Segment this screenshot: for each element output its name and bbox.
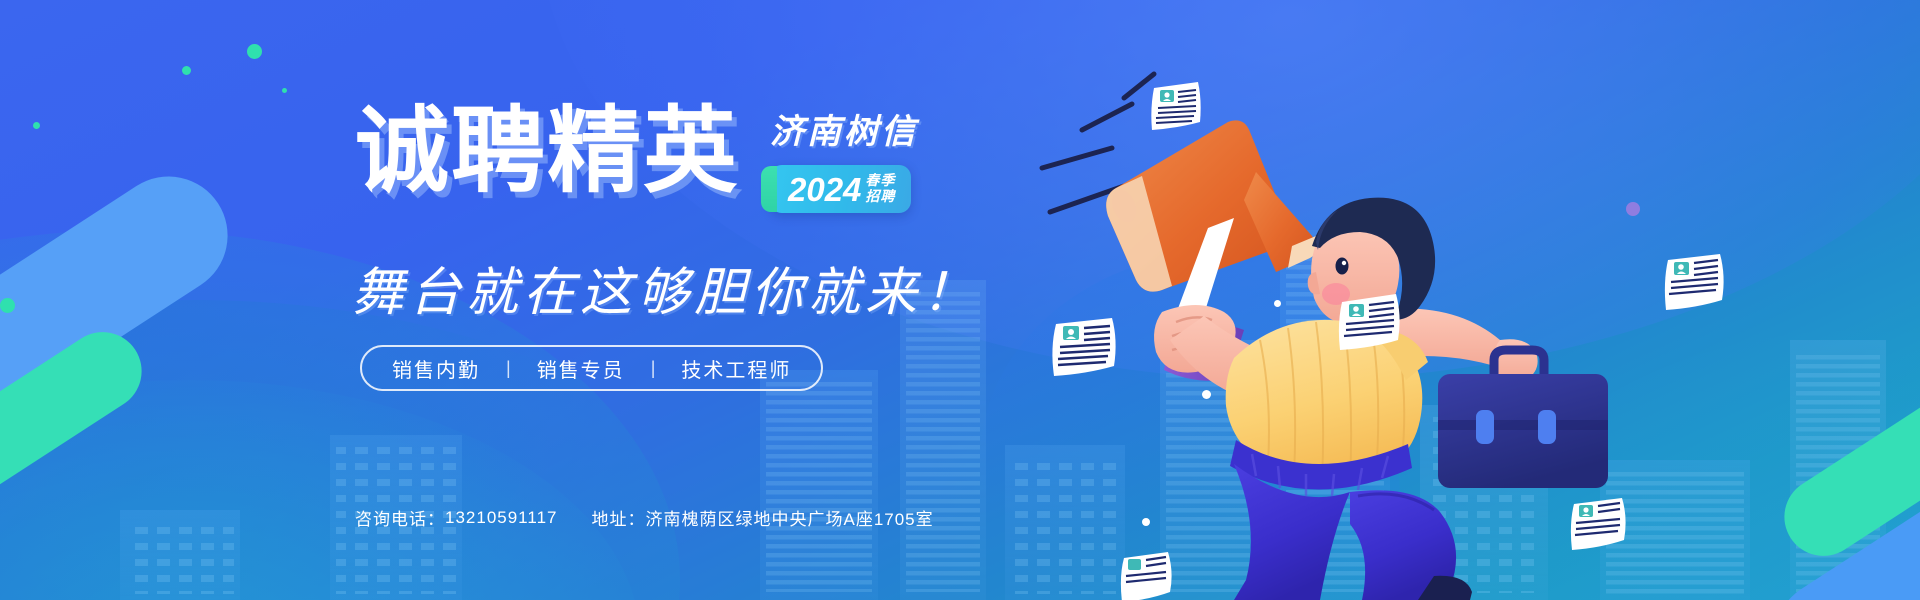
contact-info: 咨询电话： 13210591117 地址： 济南槐荫区绿地中央广场A座1705室 <box>355 505 934 530</box>
resume-paper-icon <box>1566 492 1634 560</box>
recruitment-banner: 诚聘精英 济南树信 2024 春季 招聘 舞台就在这够胆你就来！ 销售内勤 | … <box>0 0 1920 600</box>
badge-subtext-line1: 春季 <box>865 173 895 189</box>
resume-paper-icon <box>1046 312 1124 388</box>
text-content-area: 诚聘精英 济南树信 2024 春季 招聘 舞台就在这够胆你就来！ 销售内勤 | … <box>0 0 960 600</box>
position-separator: | <box>651 358 656 379</box>
headline-row: 诚聘精英 <box>355 104 739 198</box>
address-value: 济南槐荫区绿地中央广场A座1705室 <box>645 505 933 530</box>
position-item-0[interactable]: 销售内勤 <box>392 354 480 383</box>
eye <box>1336 258 1349 275</box>
season-badge: 2024 春季 招聘 <box>770 165 911 213</box>
badge-subtext: 春季 招聘 <box>865 173 895 204</box>
badge-year: 2024 <box>788 173 861 206</box>
resume-paper-icon <box>1146 78 1208 140</box>
position-item-1[interactable]: 销售专员 <box>537 354 625 383</box>
brand-stack: 济南树信 2024 春季 招聘 <box>770 104 960 213</box>
megaphone-icon <box>1106 120 1319 340</box>
resume-paper-icon <box>1116 548 1178 600</box>
resume-paper-icon <box>1660 248 1732 320</box>
address-label: 地址： <box>591 505 645 530</box>
positions-pill: 销售内勤 | 销售专员 | 技术工程师 <box>360 345 823 391</box>
position-item-2[interactable]: 技术工程师 <box>681 354 791 383</box>
brand-name: 济南树信 <box>770 104 960 153</box>
resume-paper-icon <box>1334 288 1408 360</box>
position-separator: | <box>506 358 511 379</box>
page-title: 诚聘精英 <box>355 104 739 198</box>
page-subtitle: 舞台就在这够胆你就来！ <box>352 250 979 325</box>
phone-value: 13210591117 <box>445 508 557 528</box>
phone-label: 咨询电话： <box>355 505 445 530</box>
badge-subtext-line2: 招聘 <box>865 189 895 205</box>
